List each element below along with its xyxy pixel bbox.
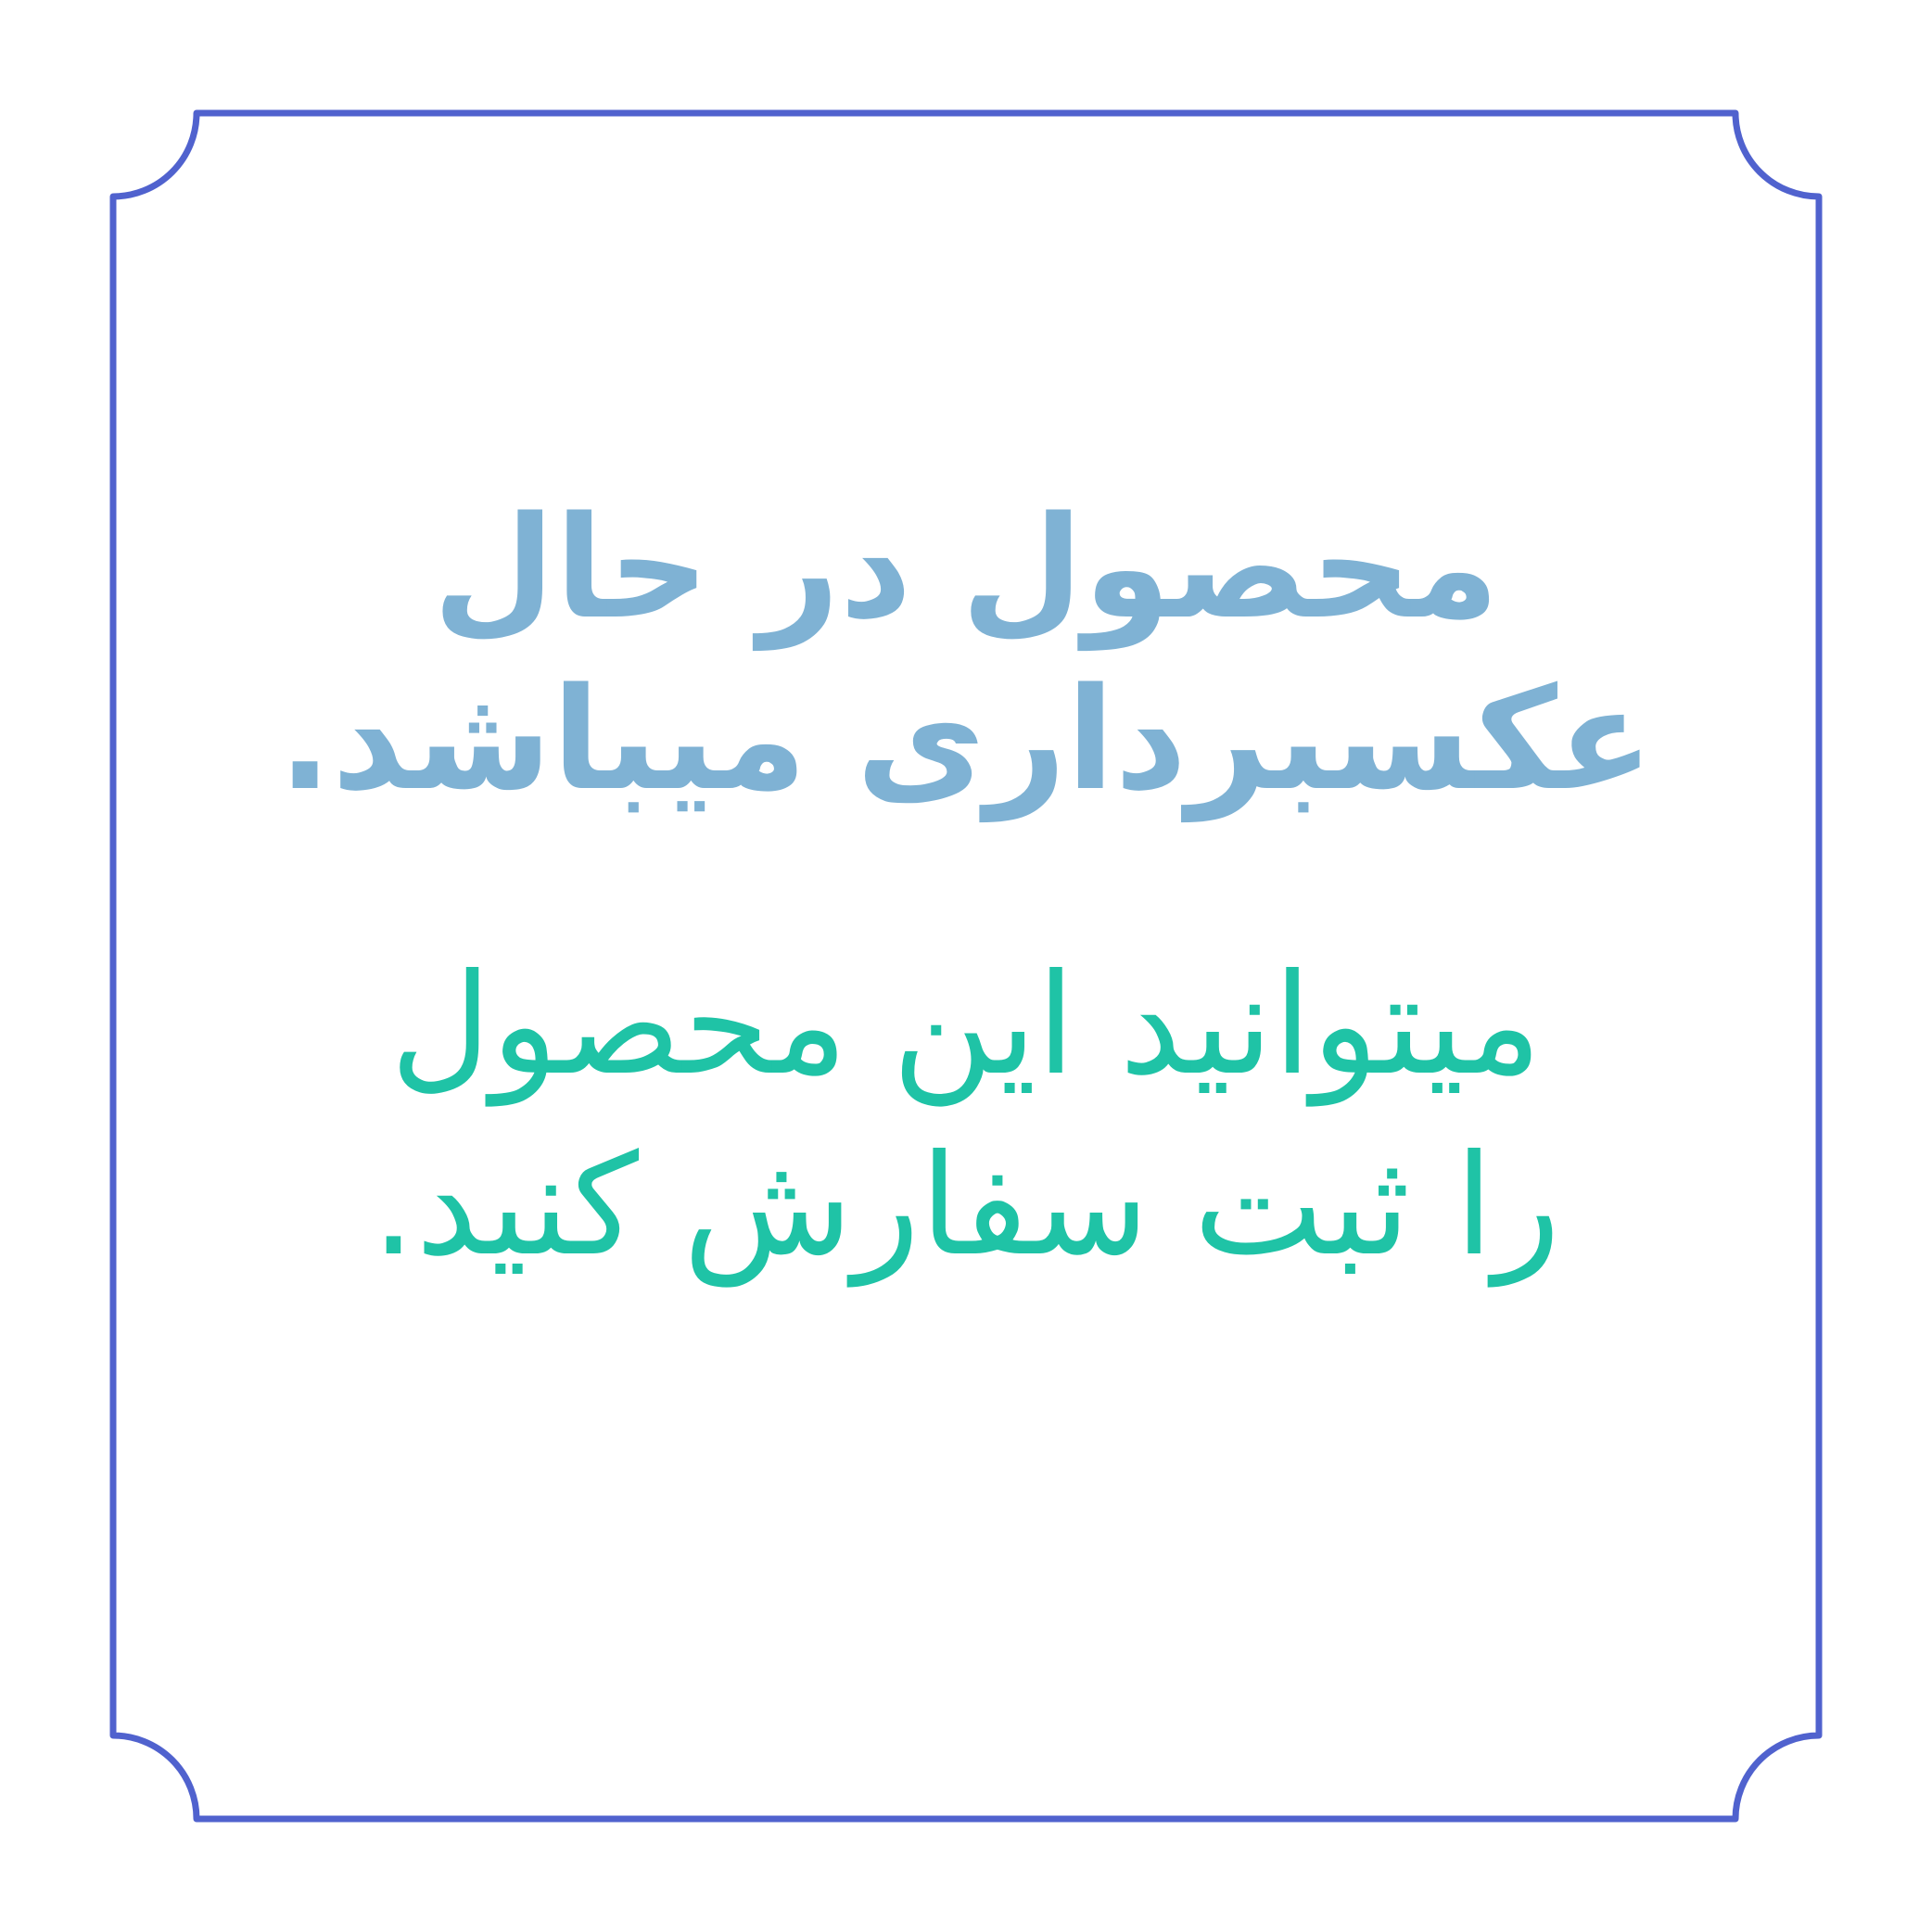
primary-notice-message: محصول در حال عکسبرداری میباشد. (271, 482, 1661, 826)
secondary-notice-line-2: را ثبت سفارش کنید. (271, 1116, 1661, 1297)
primary-notice-line-1: محصول در حال (271, 482, 1661, 654)
secondary-notice-message: میتوانید این محصول را ثبت سفارش کنید. (271, 935, 1661, 1297)
primary-notice-line-2: عکسبرداری میباشد. (271, 654, 1661, 825)
product-placeholder-card: محصول در حال عکسبرداری میباشد. میتوانید … (0, 0, 1932, 1932)
notice-content: محصول در حال عکسبرداری میباشد. میتوانید … (0, 482, 1932, 1297)
secondary-notice-line-1: میتوانید این محصول (271, 935, 1661, 1116)
